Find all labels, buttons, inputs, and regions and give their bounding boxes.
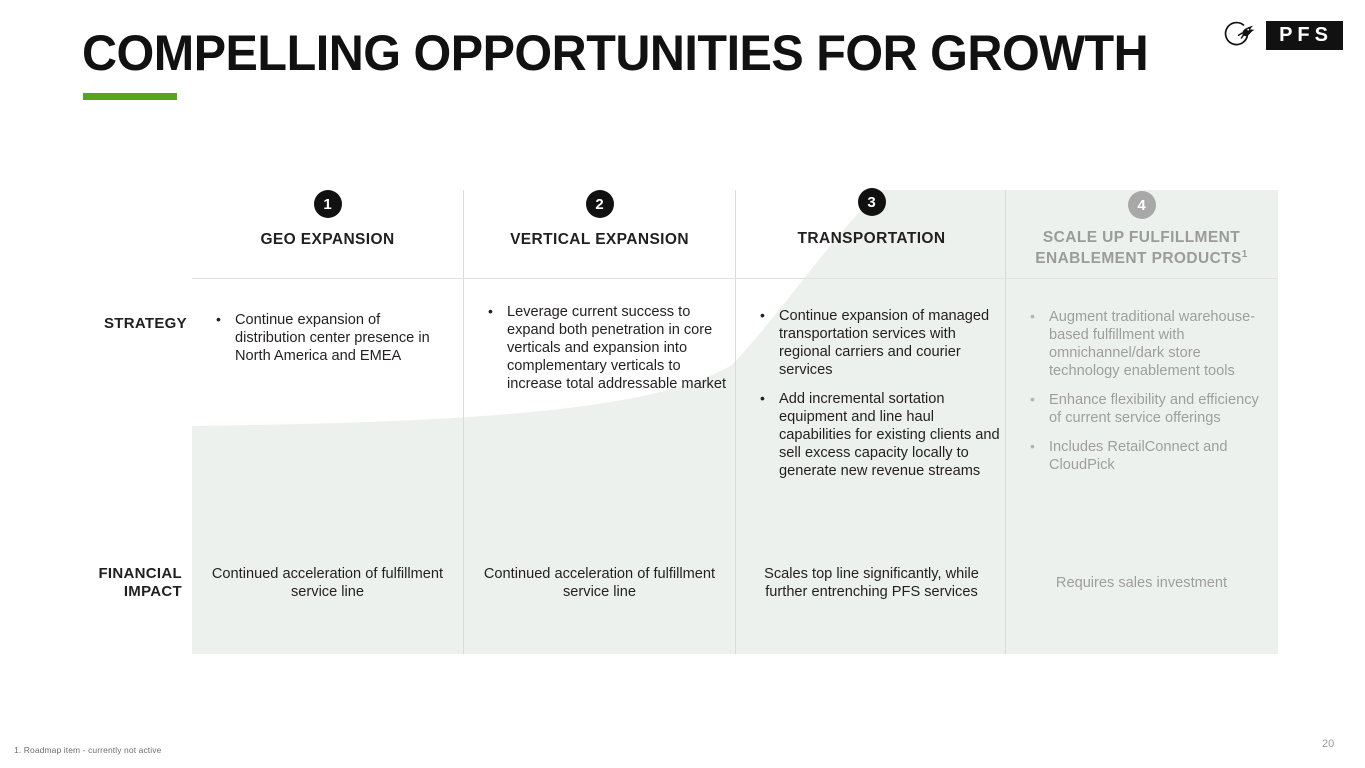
column-number-badge-4: 4	[1128, 191, 1156, 219]
financial-impact-2: Continued acceleration of fulfillment se…	[474, 566, 725, 602]
column-heading-4-line1: SCALE UP FULFILLMENT	[1043, 229, 1240, 246]
page-title: COMPELLING OPPORTUNITIES FOR GROWTH	[82, 28, 1148, 78]
column-number-badge-3: 3	[858, 188, 886, 216]
column-heading-3: TRANSPORTATION	[744, 229, 999, 249]
row-label-strategy: STRATEGY	[104, 315, 187, 333]
financial-impact-1: Continued acceleration of fulfillment se…	[202, 566, 453, 602]
slide-canvas: COMPELLING OPPORTUNITIES FOR GROWTH PFS	[0, 0, 1365, 768]
list-item: Continue expansion of distribution cente…	[214, 312, 445, 366]
list-item: Augment traditional warehouse-based fulf…	[1028, 309, 1263, 381]
list-item: Continue expansion of managed transporta…	[758, 308, 1003, 380]
list-item: Leverage current success to expand both …	[486, 304, 729, 394]
list-item: Enhance flexibility and efficiency of cu…	[1028, 392, 1263, 428]
matrix-column-geo-expansion: 1 GEO EXPANSION Continue expansion of di…	[192, 190, 463, 654]
column-heading-1: GEO EXPANSION	[200, 230, 455, 250]
matrix-column-transportation: 3 TRANSPORTATION Continue expansion of m…	[736, 190, 1007, 654]
column-heading-2: VERTICAL EXPANSION	[472, 230, 727, 250]
footnote: 1. Roadmap item - currently not active	[14, 745, 161, 755]
row-label-financial-impact: FINANCIAL IMPACT	[96, 565, 182, 601]
strategy-list-2: Leverage current success to expand both …	[486, 304, 729, 405]
financial-impact-4: Requires sales investment	[1016, 575, 1267, 593]
column-number-badge-2: 2	[586, 190, 614, 218]
brand-logo: PFS	[1222, 20, 1343, 50]
row-label-financial-line1: FINANCIAL	[98, 565, 182, 582]
footnote-marker: 1	[1242, 249, 1248, 260]
strategy-list-4: Augment traditional warehouse-based fulf…	[1028, 309, 1263, 486]
matrix-column-scale-up-fulfillment: 4 SCALE UP FULFILLMENT ENABLEMENT PRODUC…	[1006, 190, 1277, 654]
list-item: Add incremental sortation equipment and …	[758, 391, 1003, 481]
list-item: Includes RetailConnect and CloudPick	[1028, 439, 1263, 475]
strategy-list-3: Continue expansion of managed transporta…	[758, 308, 1003, 491]
column-heading-4-line2: ENABLEMENT PRODUCTS	[1035, 250, 1242, 267]
matrix-column-vertical-expansion: 2 VERTICAL EXPANSION Leverage current su…	[464, 190, 735, 654]
opportunity-matrix: 1 GEO EXPANSION Continue expansion of di…	[192, 190, 1278, 654]
strategy-list-1: Continue expansion of distribution cente…	[214, 312, 445, 377]
financial-impact-3: Scales top line significantly, while fur…	[746, 566, 997, 602]
column-number-badge-1: 1	[314, 190, 342, 218]
row-label-financial-line2: IMPACT	[124, 583, 182, 600]
gecko-icon	[1222, 20, 1256, 50]
title-accent-bar	[83, 93, 177, 100]
page-number: 20	[1322, 738, 1334, 750]
column-heading-4: SCALE UP FULFILLMENT ENABLEMENT PRODUCTS…	[1014, 228, 1269, 269]
logo-wordmark: PFS	[1266, 21, 1343, 50]
